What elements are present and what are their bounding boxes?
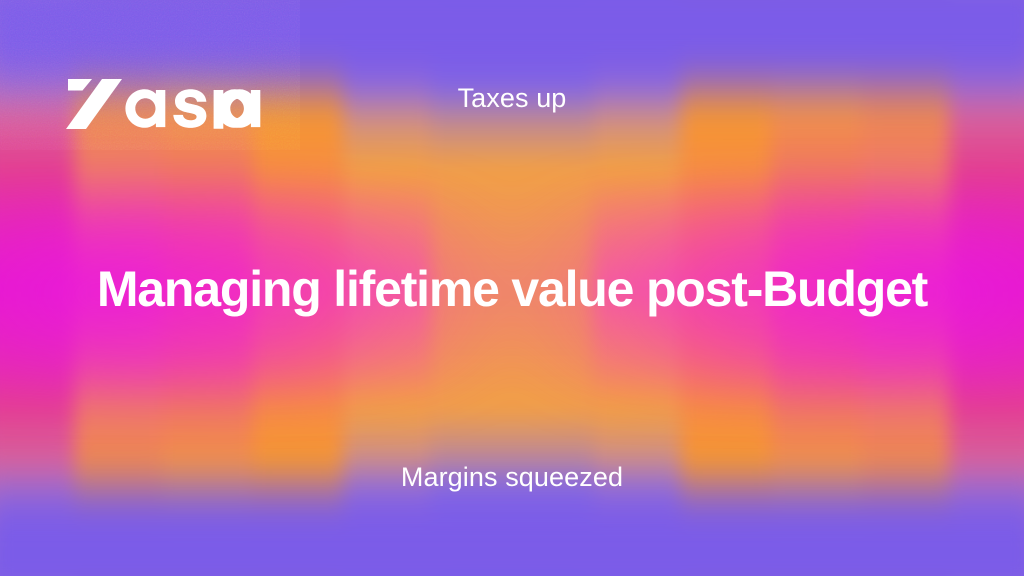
- content-layer: Taxes up Managing lifetime value post-Bu…: [0, 0, 1024, 576]
- graphic-canvas: Taxes up Managing lifetime value post-Bu…: [0, 0, 1024, 576]
- page-title: Managing lifetime value post-Budget: [0, 262, 1024, 316]
- callout-margins-squeezed: Margins squeezed: [0, 464, 1024, 491]
- callout-taxes-up: Taxes up: [0, 85, 1024, 112]
